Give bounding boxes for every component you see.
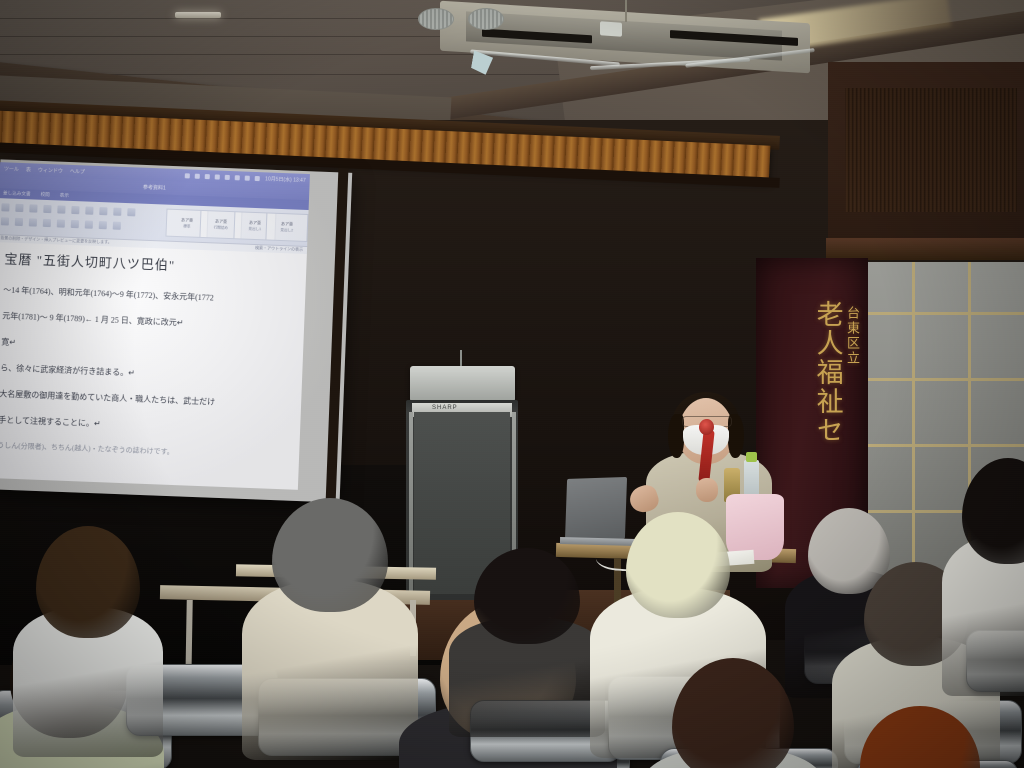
attendee-head — [272, 498, 388, 612]
attendee-head — [626, 512, 730, 618]
attendee-head — [474, 548, 580, 644]
lecture-hall-photo: 台東区立 老人福祉セ ツール 表 ウィンドウ ヘルプ 10月5日(水) 13:4… — [0, 0, 1024, 768]
audience-group — [0, 0, 1024, 768]
attendee-head — [36, 526, 140, 638]
